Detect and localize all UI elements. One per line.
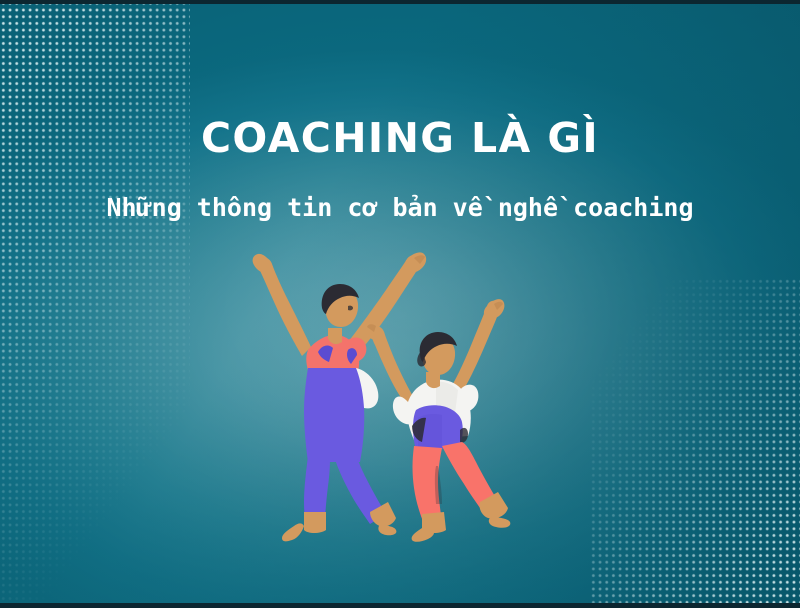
halftone-dots-left — [0, 0, 190, 608]
top-edge-strip — [0, 0, 800, 4]
coaching-banner: COACHING LÀ GÌ Những thông tin cơ bản về… — [0, 0, 800, 608]
halftone-dots-bottom-right — [590, 278, 800, 608]
bottom-edge-strip — [0, 603, 800, 608]
page-title: COACHING LÀ GÌ — [0, 118, 800, 159]
two-dancing-figures-illustration: .sk { fill: #d39a5e; } .sk2 { fill: #c68… — [236, 250, 566, 550]
page-subtitle: Những thông tin cơ bản về nghề coaching — [0, 192, 800, 223]
